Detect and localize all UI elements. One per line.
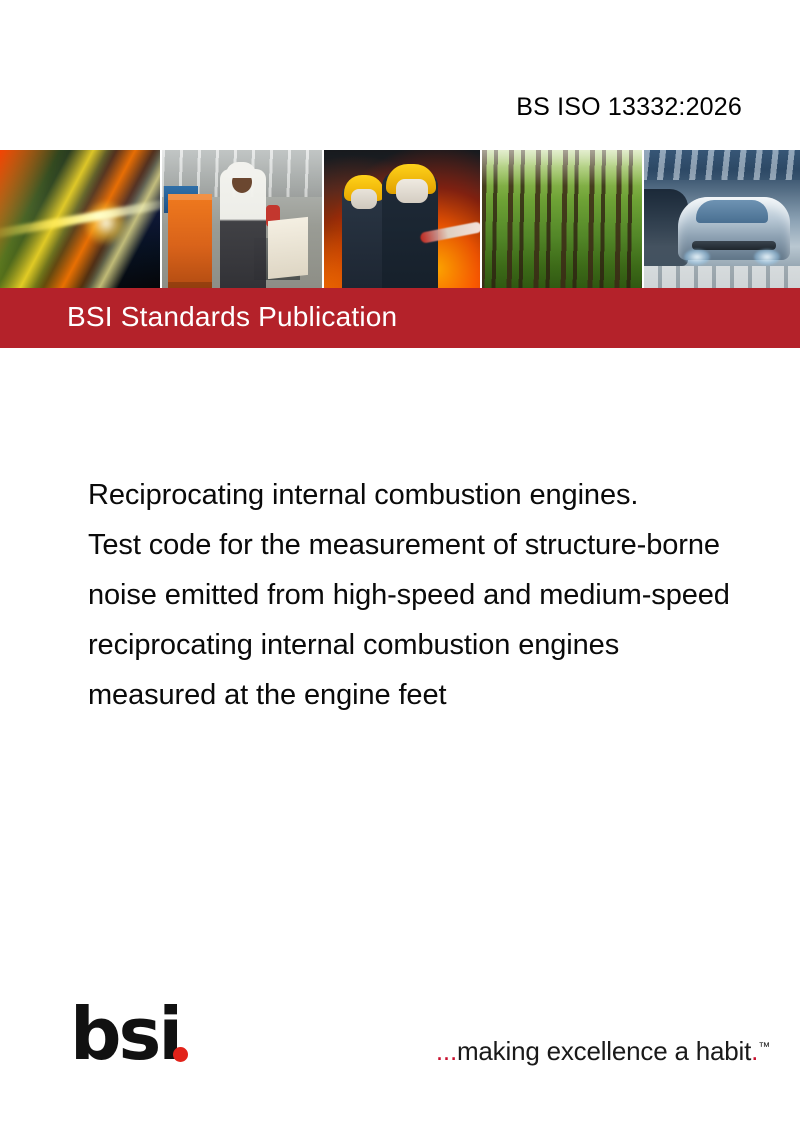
title-line: noise emitted from high-speed and medium… [88,570,800,620]
standards-publication-banner: BSI Standards Publication [0,288,800,348]
banner-label: BSI Standards Publication [67,301,397,333]
bsi-logo: bsi [70,1003,200,1065]
strip-photo-car-production-line [644,150,800,288]
warehouse-carton [268,217,308,279]
factory-floor [644,266,800,288]
strip-photo-forest-trees [482,150,642,288]
trademark-symbol: ™ [758,1039,770,1053]
title-line: Test code for the measurement of structu… [88,520,800,570]
tagline-text: making excellence a habit [457,1036,751,1066]
car-windscreen [696,200,768,223]
standard-number: BS ISO 13332:2026 [516,93,742,122]
bsi-logo-dot-icon [173,1047,188,1062]
car-headlamp-right [754,249,780,265]
bsi-logo-wordmark: bsi [70,992,180,1076]
bsi-tagline: ...making excellence a habit.™ [436,1036,770,1067]
cover-image-strip [0,150,800,288]
tagline-ellipsis: ... [436,1036,457,1066]
title-line: measured at the engine feet [88,670,800,720]
strip-photo-night-traffic-light-trails [0,150,160,288]
car-headlamp-left [684,249,710,265]
firefighter-rear-face [351,189,377,209]
warehouse-hard-hat [226,162,256,178]
page-title: Reciprocating internal combustion engine… [88,470,800,720]
factory-overhead-rail [644,150,800,180]
title-line: Reciprocating internal combustion engine… [88,470,800,520]
firefighter-front-face [396,179,428,203]
strip-photo-warehouse-worker [162,150,322,288]
title-line: reciprocating internal combustion engine… [88,620,800,670]
strip-photo-firefighters [324,150,480,288]
warehouse-orange-crate [168,194,212,288]
